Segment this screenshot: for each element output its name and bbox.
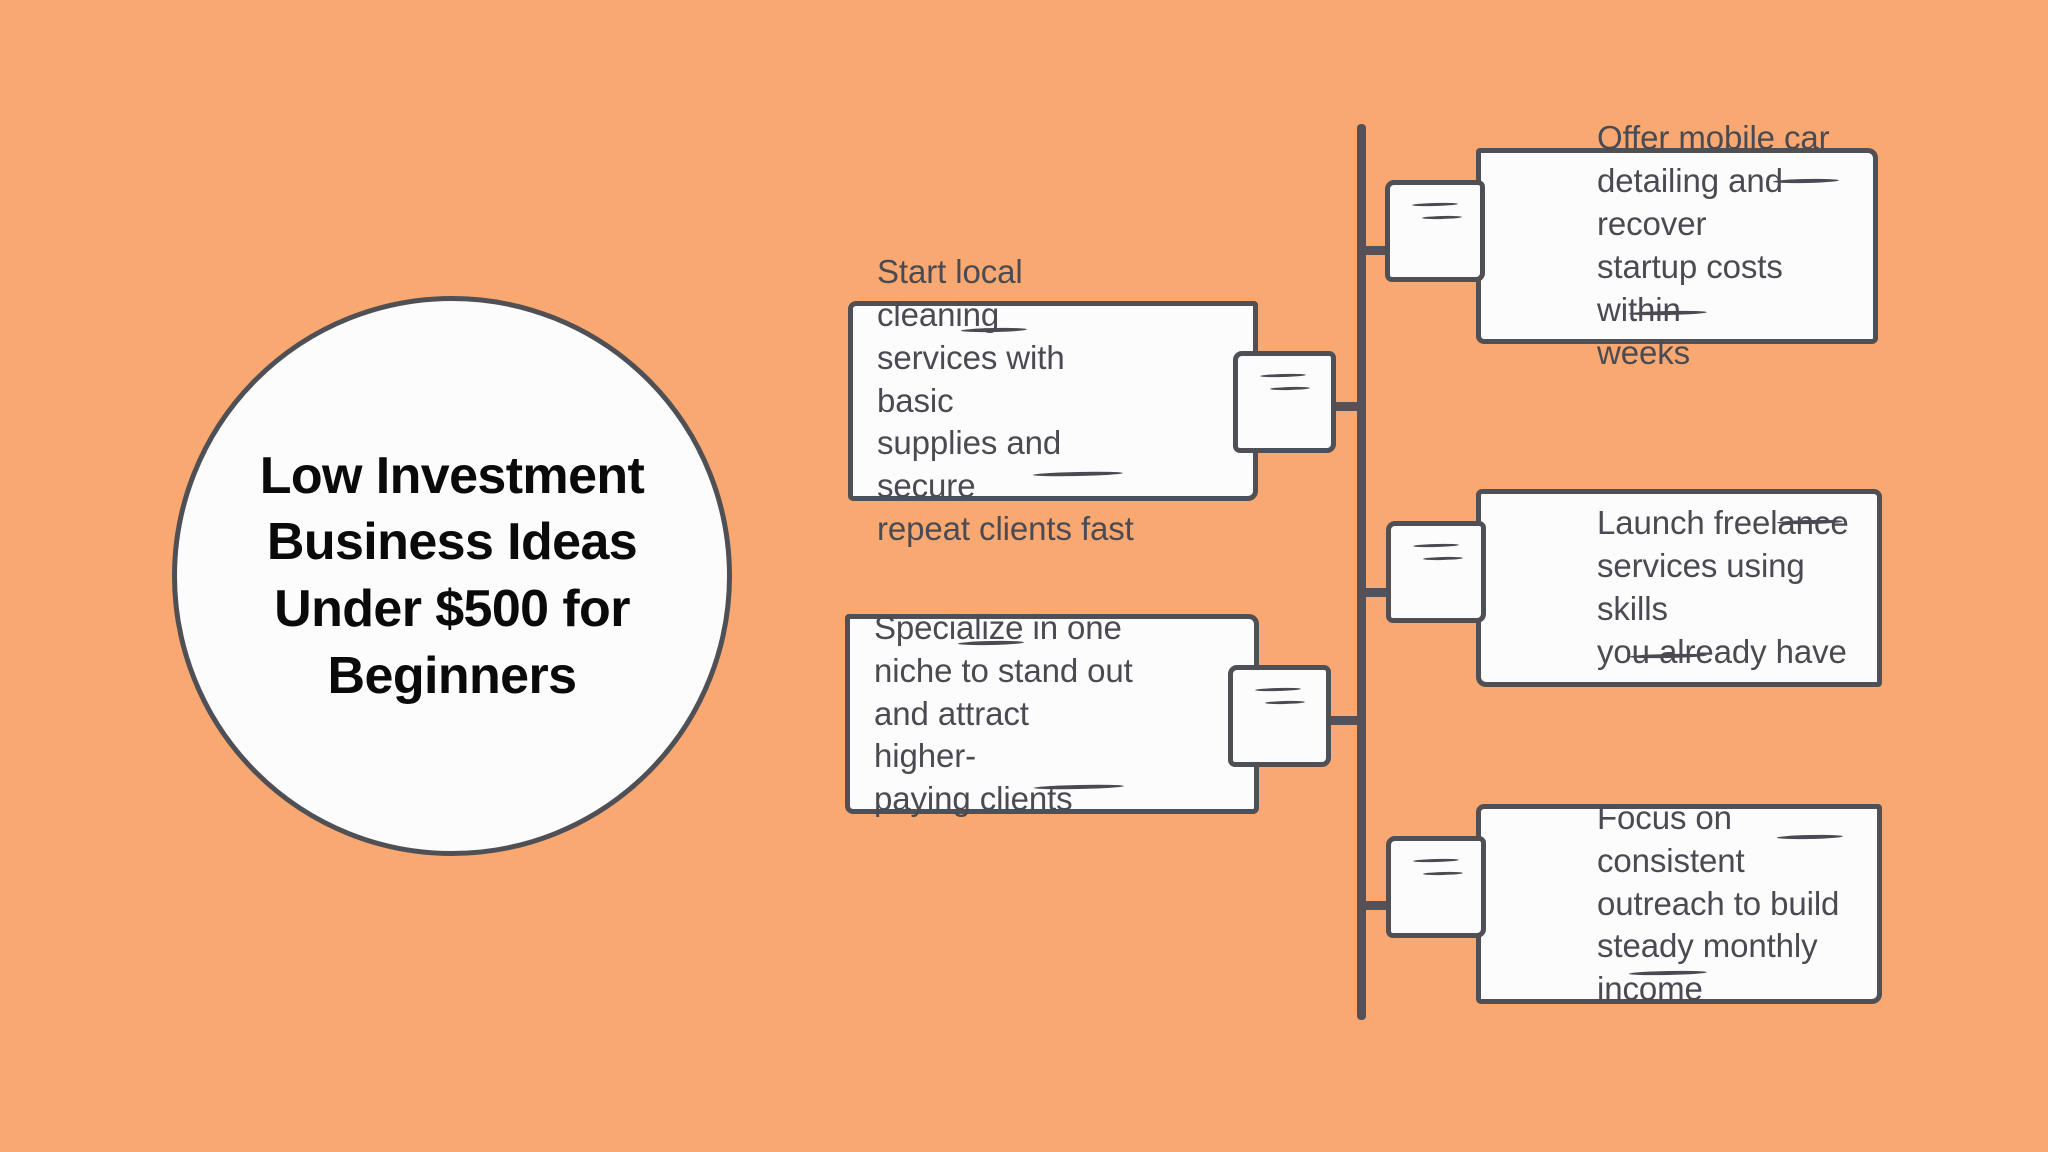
note-card-mobile-car-detailing[interactable]: Offer mobile car detailing and recover s…	[1476, 148, 1878, 344]
connector-box-5[interactable]	[1386, 836, 1486, 938]
decorative-dash-icon	[1265, 700, 1305, 704]
central-topic-circle: Low Investment Business Ideas Under $500…	[172, 296, 732, 856]
decorative-dash-icon	[1413, 543, 1459, 547]
note-card-text: Focus on consistent outreach to build st…	[1481, 797, 1877, 1011]
connector-box-4[interactable]	[1228, 665, 1331, 767]
decorative-dash-icon	[1413, 858, 1459, 862]
decorative-dash-icon	[1412, 202, 1458, 206]
page-title: Low Investment Business Ideas Under $500…	[212, 443, 692, 709]
decorative-dash-icon	[1423, 871, 1463, 875]
decorative-dash-icon	[1423, 556, 1463, 560]
note-card-text: Launch freelance services using skills y…	[1481, 502, 1877, 674]
note-card-text: Offer mobile car detailing and recover s…	[1481, 117, 1873, 374]
note-card-freelance-services[interactable]: Launch freelance services using skills y…	[1476, 489, 1882, 687]
connector-box-1[interactable]	[1385, 180, 1485, 282]
note-card-local-cleaning-services[interactable]: Start local cleaning services with basic…	[848, 301, 1258, 501]
decorative-dash-icon	[1260, 373, 1306, 377]
note-card-text: Start local cleaning services with basic…	[853, 251, 1253, 551]
decorative-dash-icon	[1255, 687, 1301, 691]
note-card-niche-specialization[interactable]: Specialize in one niche to stand out and…	[845, 614, 1259, 814]
mindmap-canvas: Low Investment Business Ideas Under $500…	[0, 0, 2048, 1152]
connector-box-2[interactable]	[1233, 351, 1336, 453]
decorative-dash-icon	[1422, 215, 1462, 219]
connector-box-3[interactable]	[1386, 521, 1486, 623]
decorative-dash-icon	[1270, 386, 1310, 390]
note-card-consistent-outreach[interactable]: Focus on consistent outreach to build st…	[1476, 804, 1882, 1004]
trunk-line	[1357, 124, 1366, 1020]
